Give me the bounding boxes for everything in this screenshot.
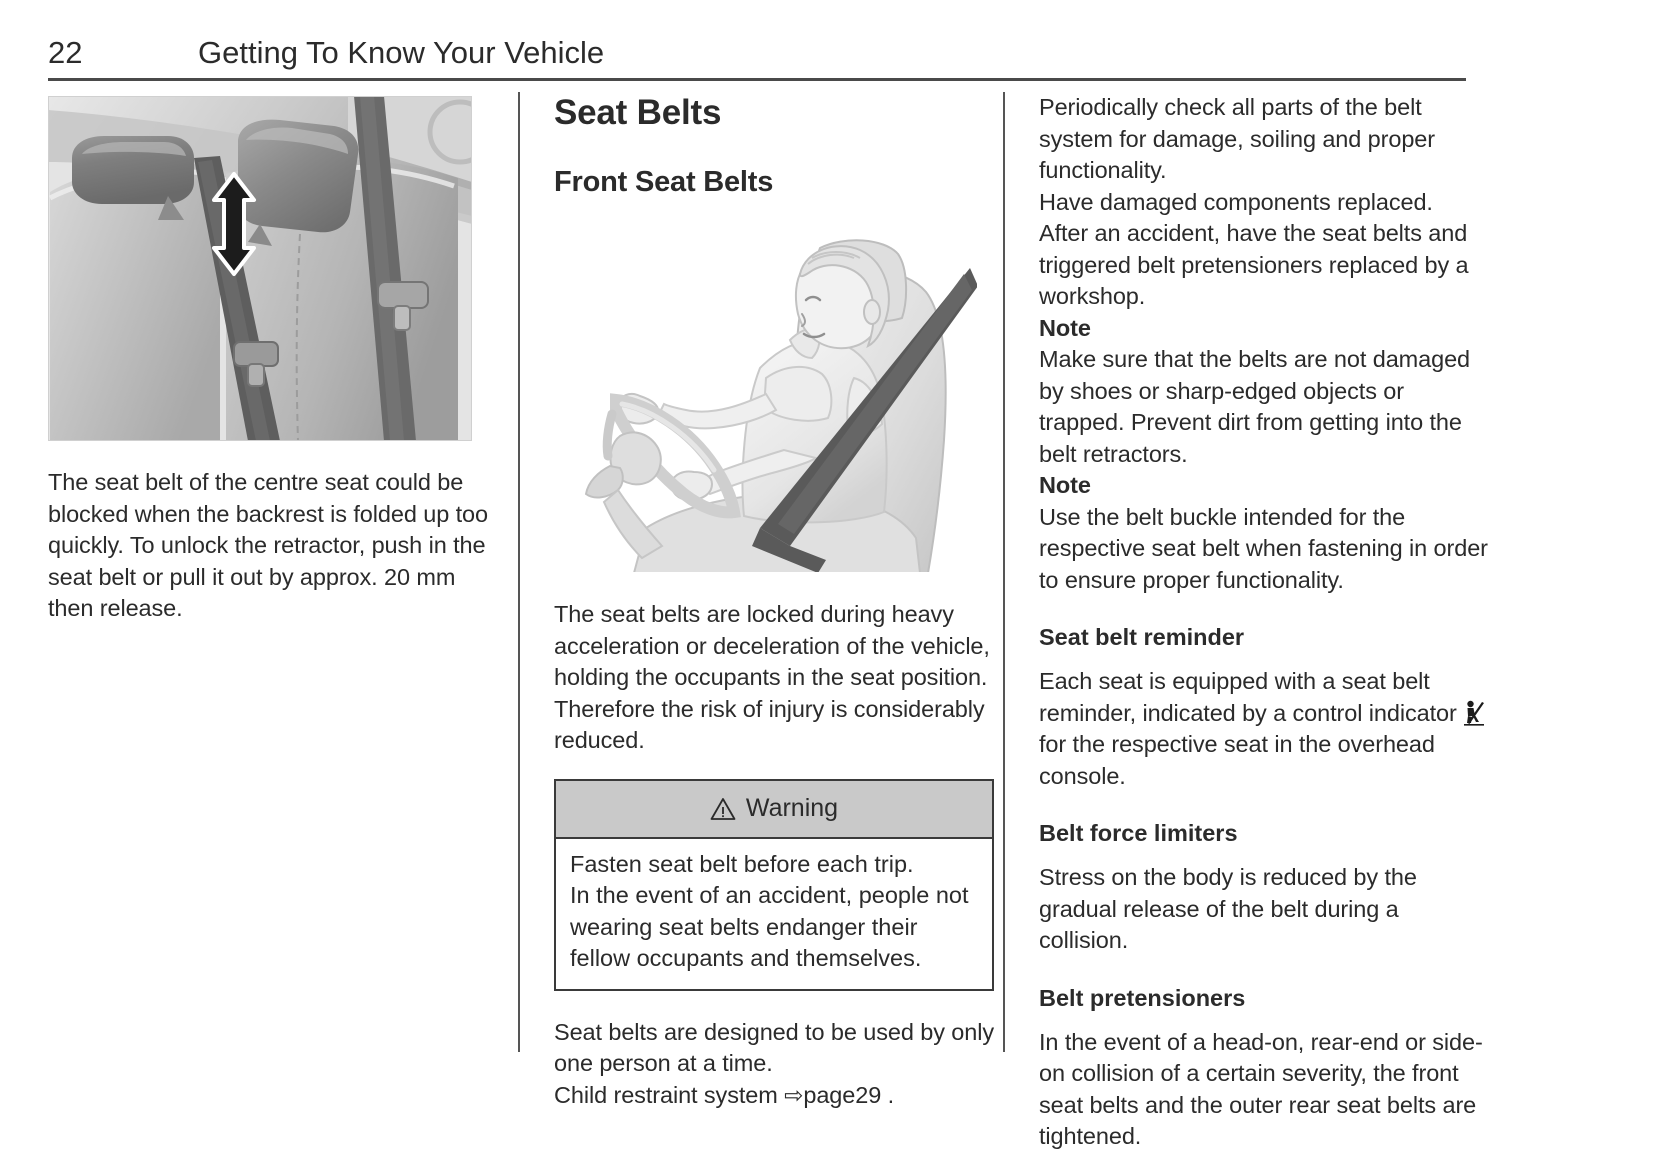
middle-paragraph-1: The seat belts are locked during heavy a… <box>554 599 1003 757</box>
warning-box: Warning Fasten seat belt before each tri… <box>554 779 994 991</box>
note-1: Note <box>1039 313 1488 345</box>
driver-seat-belt-illustration <box>554 228 978 573</box>
warning-body: Fasten seat belt before each trip. In th… <box>556 839 992 989</box>
middle-paragraph-2: Seat belts are designed to be used by on… <box>554 1017 1003 1080</box>
belt-force-limiters-text: Stress on the body is reduced by the gra… <box>1039 862 1488 957</box>
warning-heading: Warning <box>746 794 838 823</box>
right-column: Periodically check all parts of the belt… <box>1003 92 1488 1052</box>
right-paragraph-3: After an accident, have the seat belts a… <box>1039 218 1488 313</box>
seat-belt-reminder-icon <box>1463 700 1485 726</box>
heading-belt-pretensioners: Belt pretensioners <box>1039 983 1488 1013</box>
seat-belt-reminder-text-after: for the respective seat in the overhead … <box>1039 731 1435 789</box>
warning-line-1: Fasten seat belt before each trip. <box>570 849 978 881</box>
content-columns: The seat belt of the centre seat could b… <box>48 92 1488 1052</box>
cross-reference-line: Child restraint system ⇨page29 . <box>554 1080 1003 1112</box>
right-paragraph-2: Have damaged components replaced. <box>1039 187 1488 219</box>
page-title: Getting To Know Your Vehicle <box>198 34 604 72</box>
left-column-paragraph: The seat belt of the centre seat could b… <box>48 467 500 625</box>
middle-column: Seat Belts Front Seat Belts <box>518 92 1003 1052</box>
note-2-label: Note <box>1039 472 1091 498</box>
belt-pretensioners-text: In the event of a head-on, rear-end or s… <box>1039 1027 1488 1153</box>
warning-line-2: In the event of an accident, people not … <box>570 880 978 975</box>
cross-reference-trailing: . <box>888 1082 894 1108</box>
seat-belt-reminder-text-before: Each seat is equipped with a seat belt r… <box>1039 668 1457 726</box>
note-2: Note <box>1039 470 1488 502</box>
note-1-text: Make sure that the belts are not damaged… <box>1039 344 1488 470</box>
note-2-text: Use the belt buckle intended for the res… <box>1039 502 1488 597</box>
rear-seat-belt-photo <box>48 96 472 441</box>
seat-belt-reminder-text: Each seat is equipped with a seat belt r… <box>1039 666 1488 792</box>
left-column: The seat belt of the centre seat could b… <box>48 92 518 1052</box>
cross-reference-label: Child restraint system <box>554 1082 778 1108</box>
cross-reference-arrow-icon: ⇨ <box>784 1082 803 1108</box>
heading-belt-force-limiters: Belt force limiters <box>1039 818 1488 848</box>
page-number: 22 <box>48 34 198 72</box>
section-subtitle: Front Seat Belts <box>554 164 1003 200</box>
warning-triangle-icon <box>710 797 736 821</box>
note-1-label: Note <box>1039 315 1091 341</box>
section-title: Seat Belts <box>554 92 1003 134</box>
page-header: 22 Getting To Know Your Vehicle <box>48 34 1466 81</box>
cross-reference-target[interactable]: page29 <box>803 1082 881 1108</box>
heading-seat-belt-reminder: Seat belt reminder <box>1039 622 1488 652</box>
warning-header: Warning <box>556 781 992 839</box>
right-paragraph-1: Periodically check all parts of the belt… <box>1039 92 1488 187</box>
